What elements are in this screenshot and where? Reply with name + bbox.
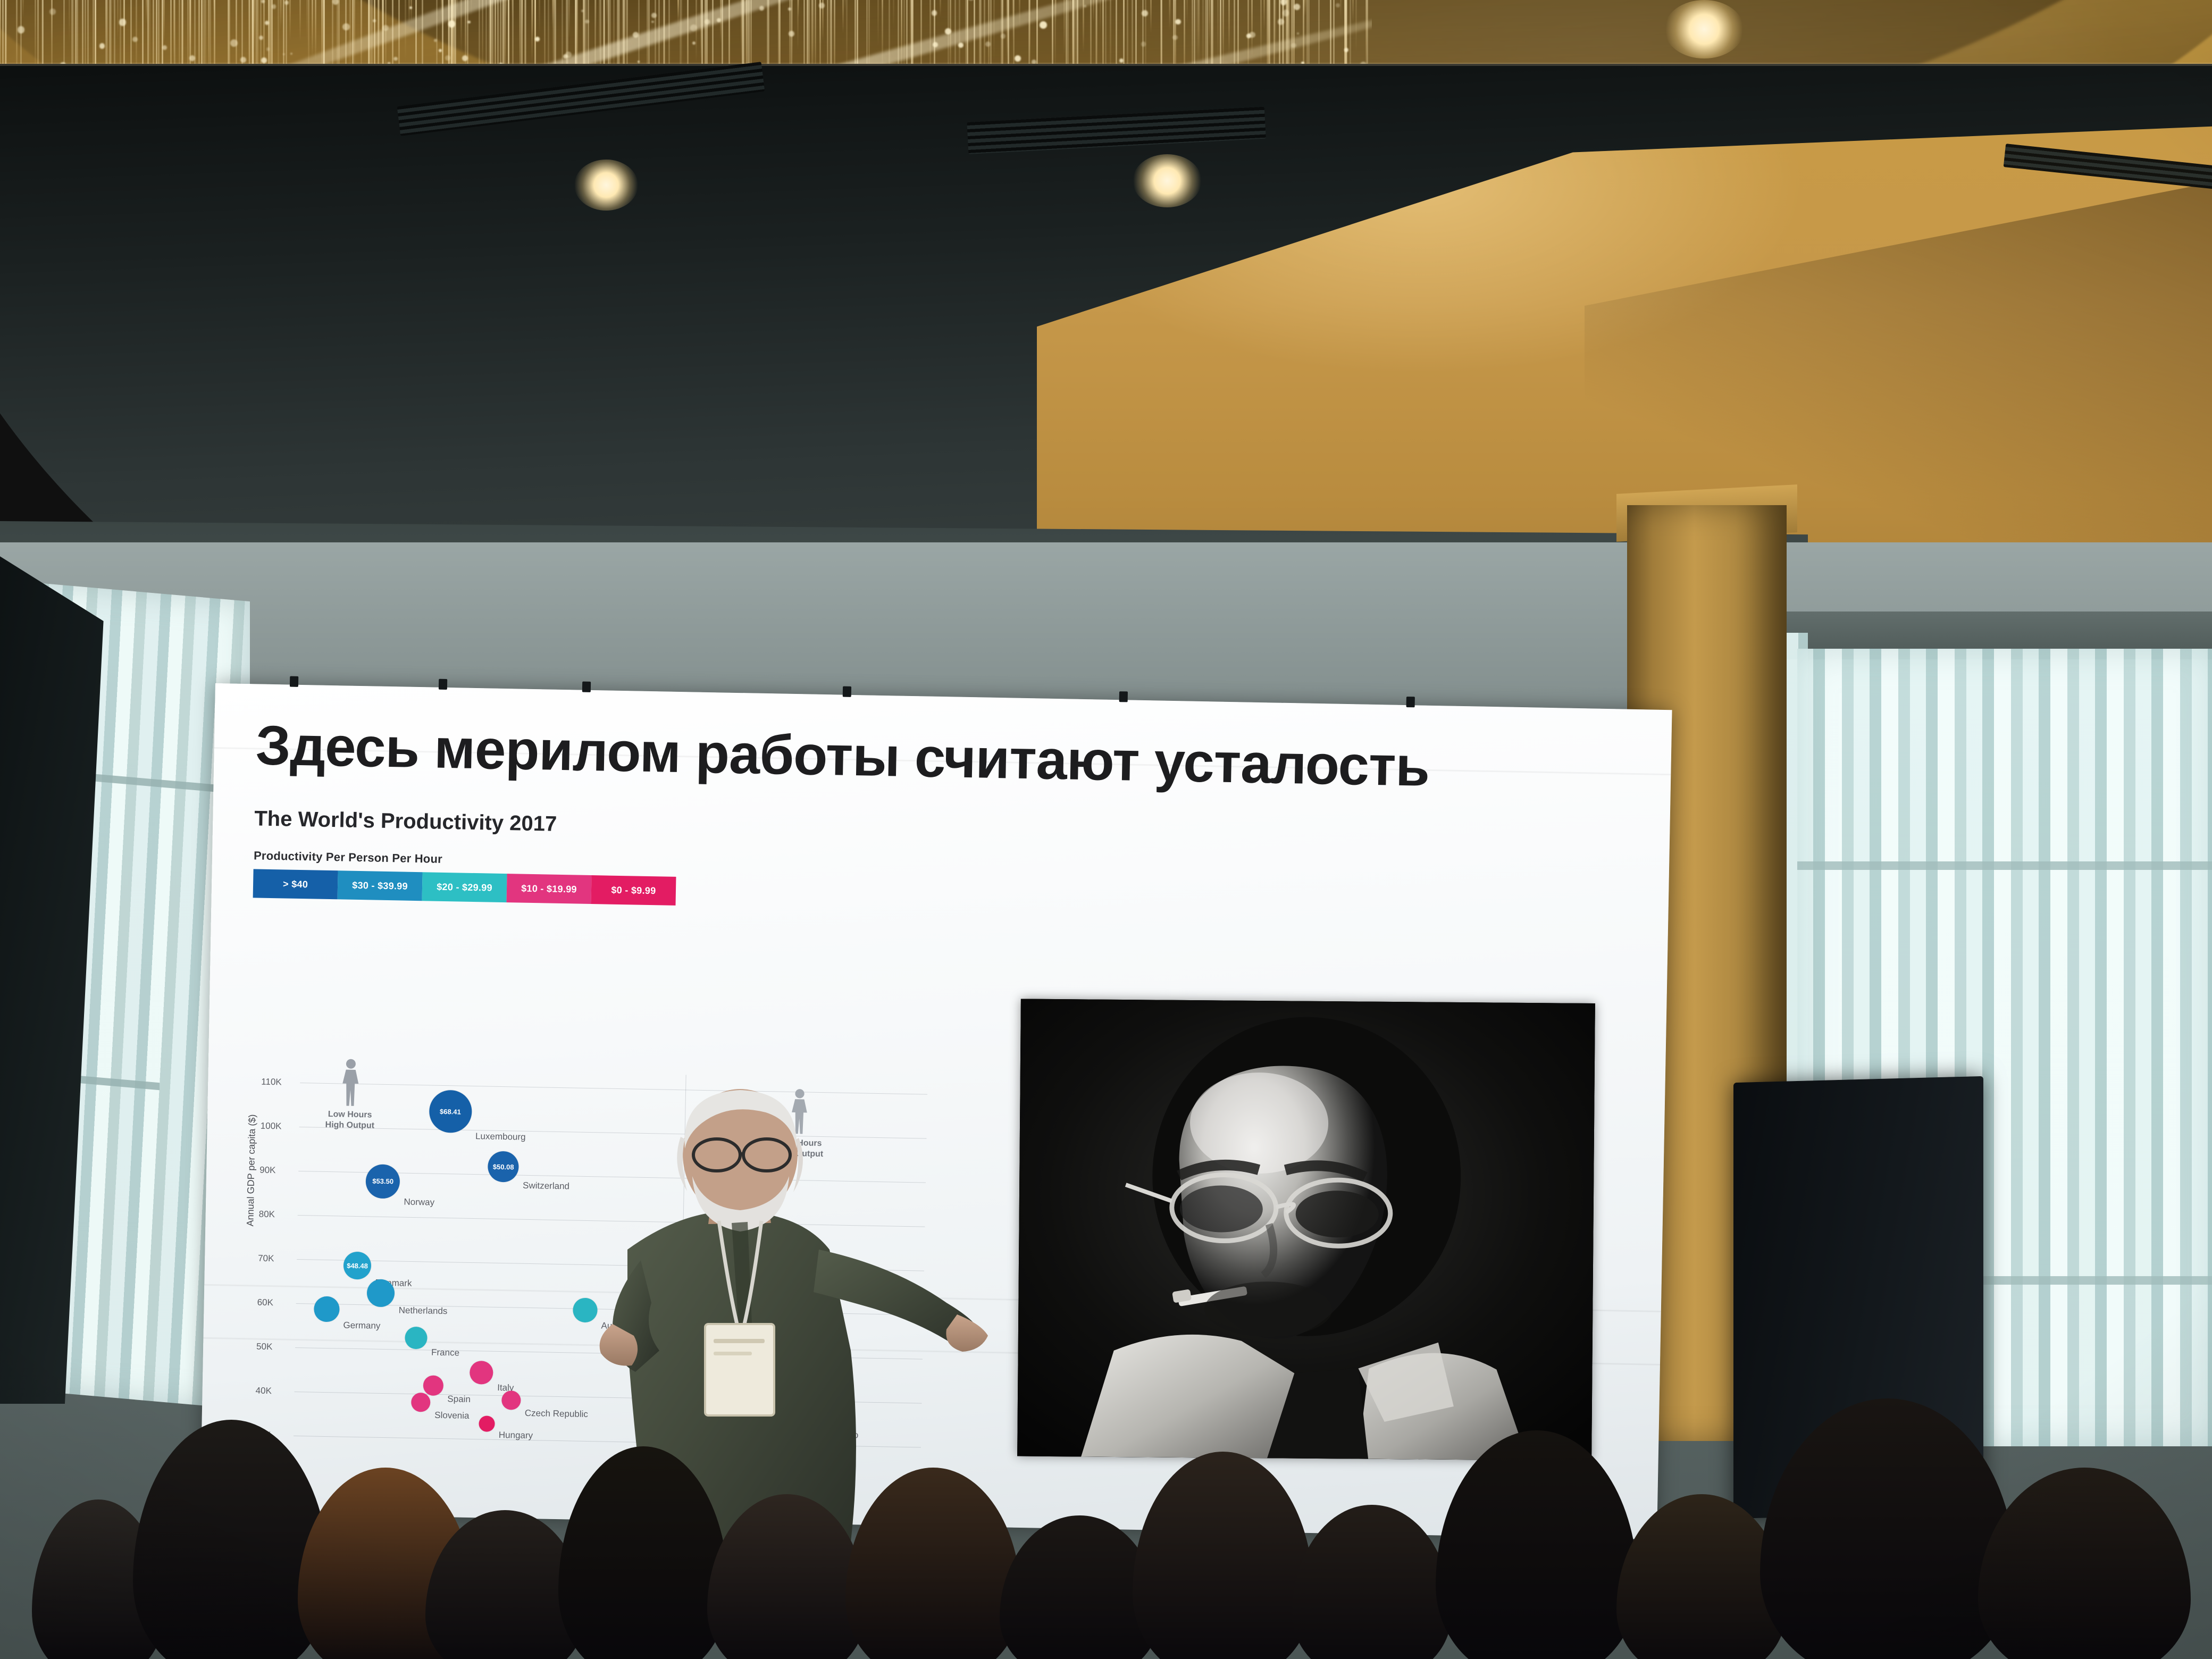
legend-band-4: $0 - $9.99 (591, 875, 676, 906)
bubble-label-netherlands: Netherlands (399, 1305, 448, 1317)
downlight-2 (1133, 154, 1202, 207)
audience-head (558, 1446, 728, 1659)
audience-head (1133, 1452, 1313, 1659)
y-tick: 60K (257, 1297, 273, 1309)
y-axis-label: Annual GDP per capita ($) (245, 1114, 258, 1226)
slide-subtitle: The World's Productivity 2017 (254, 807, 1628, 856)
productivity-legend: > $40$30 - $39.99$20 - $29.99$10 - $19.9… (253, 869, 676, 906)
downlight-3 (1664, 0, 1744, 58)
bubble-netherlands (367, 1279, 395, 1307)
bubble-switzerland: $50.08 (488, 1151, 519, 1183)
bubble-norway: $53.50 (366, 1164, 400, 1199)
slide-title: Здесь мерилом работы считают усталость (255, 717, 1630, 799)
audience-head (1760, 1398, 2015, 1659)
bubble-germany (314, 1296, 340, 1322)
downlight-1 (574, 160, 638, 211)
audience-head (133, 1420, 330, 1659)
bubble-denmark: $48.48 (343, 1252, 372, 1280)
bubble-label-luxembourg: Luxembourg (475, 1131, 526, 1143)
legend-band-1: $30 - $39.99 (338, 870, 423, 901)
legend-band-2: $20 - $29.99 (422, 872, 507, 902)
audience-silhouettes (0, 1319, 2212, 1659)
y-tick: 100K (261, 1121, 282, 1132)
standing-person-icon (338, 1058, 363, 1107)
legend-band-3: $10 - $19.99 (507, 874, 592, 904)
audience-head (1436, 1430, 1638, 1659)
right-window-rail-top (1797, 861, 2212, 870)
bubble-label-norway: Norway (404, 1197, 434, 1208)
y-tick: 110K (261, 1077, 282, 1088)
audience-head (707, 1494, 867, 1659)
audience-head (1292, 1505, 1452, 1659)
legend-band-0: > $40 (253, 869, 338, 899)
y-tick: 80K (259, 1209, 275, 1220)
quadrant-low-hours-high-output: Low Hours High Output (299, 1057, 401, 1132)
y-tick: 70K (258, 1253, 274, 1264)
y-tick: 90K (259, 1165, 276, 1176)
audience-head (845, 1468, 1021, 1659)
conference-hall-scene: Здесь мерилом работы считают усталость T… (0, 0, 2212, 1659)
bubble-luxembourg: $68.41 (429, 1090, 472, 1133)
quadrant-line2: High Output (299, 1119, 400, 1132)
audience-head (1978, 1468, 2191, 1659)
